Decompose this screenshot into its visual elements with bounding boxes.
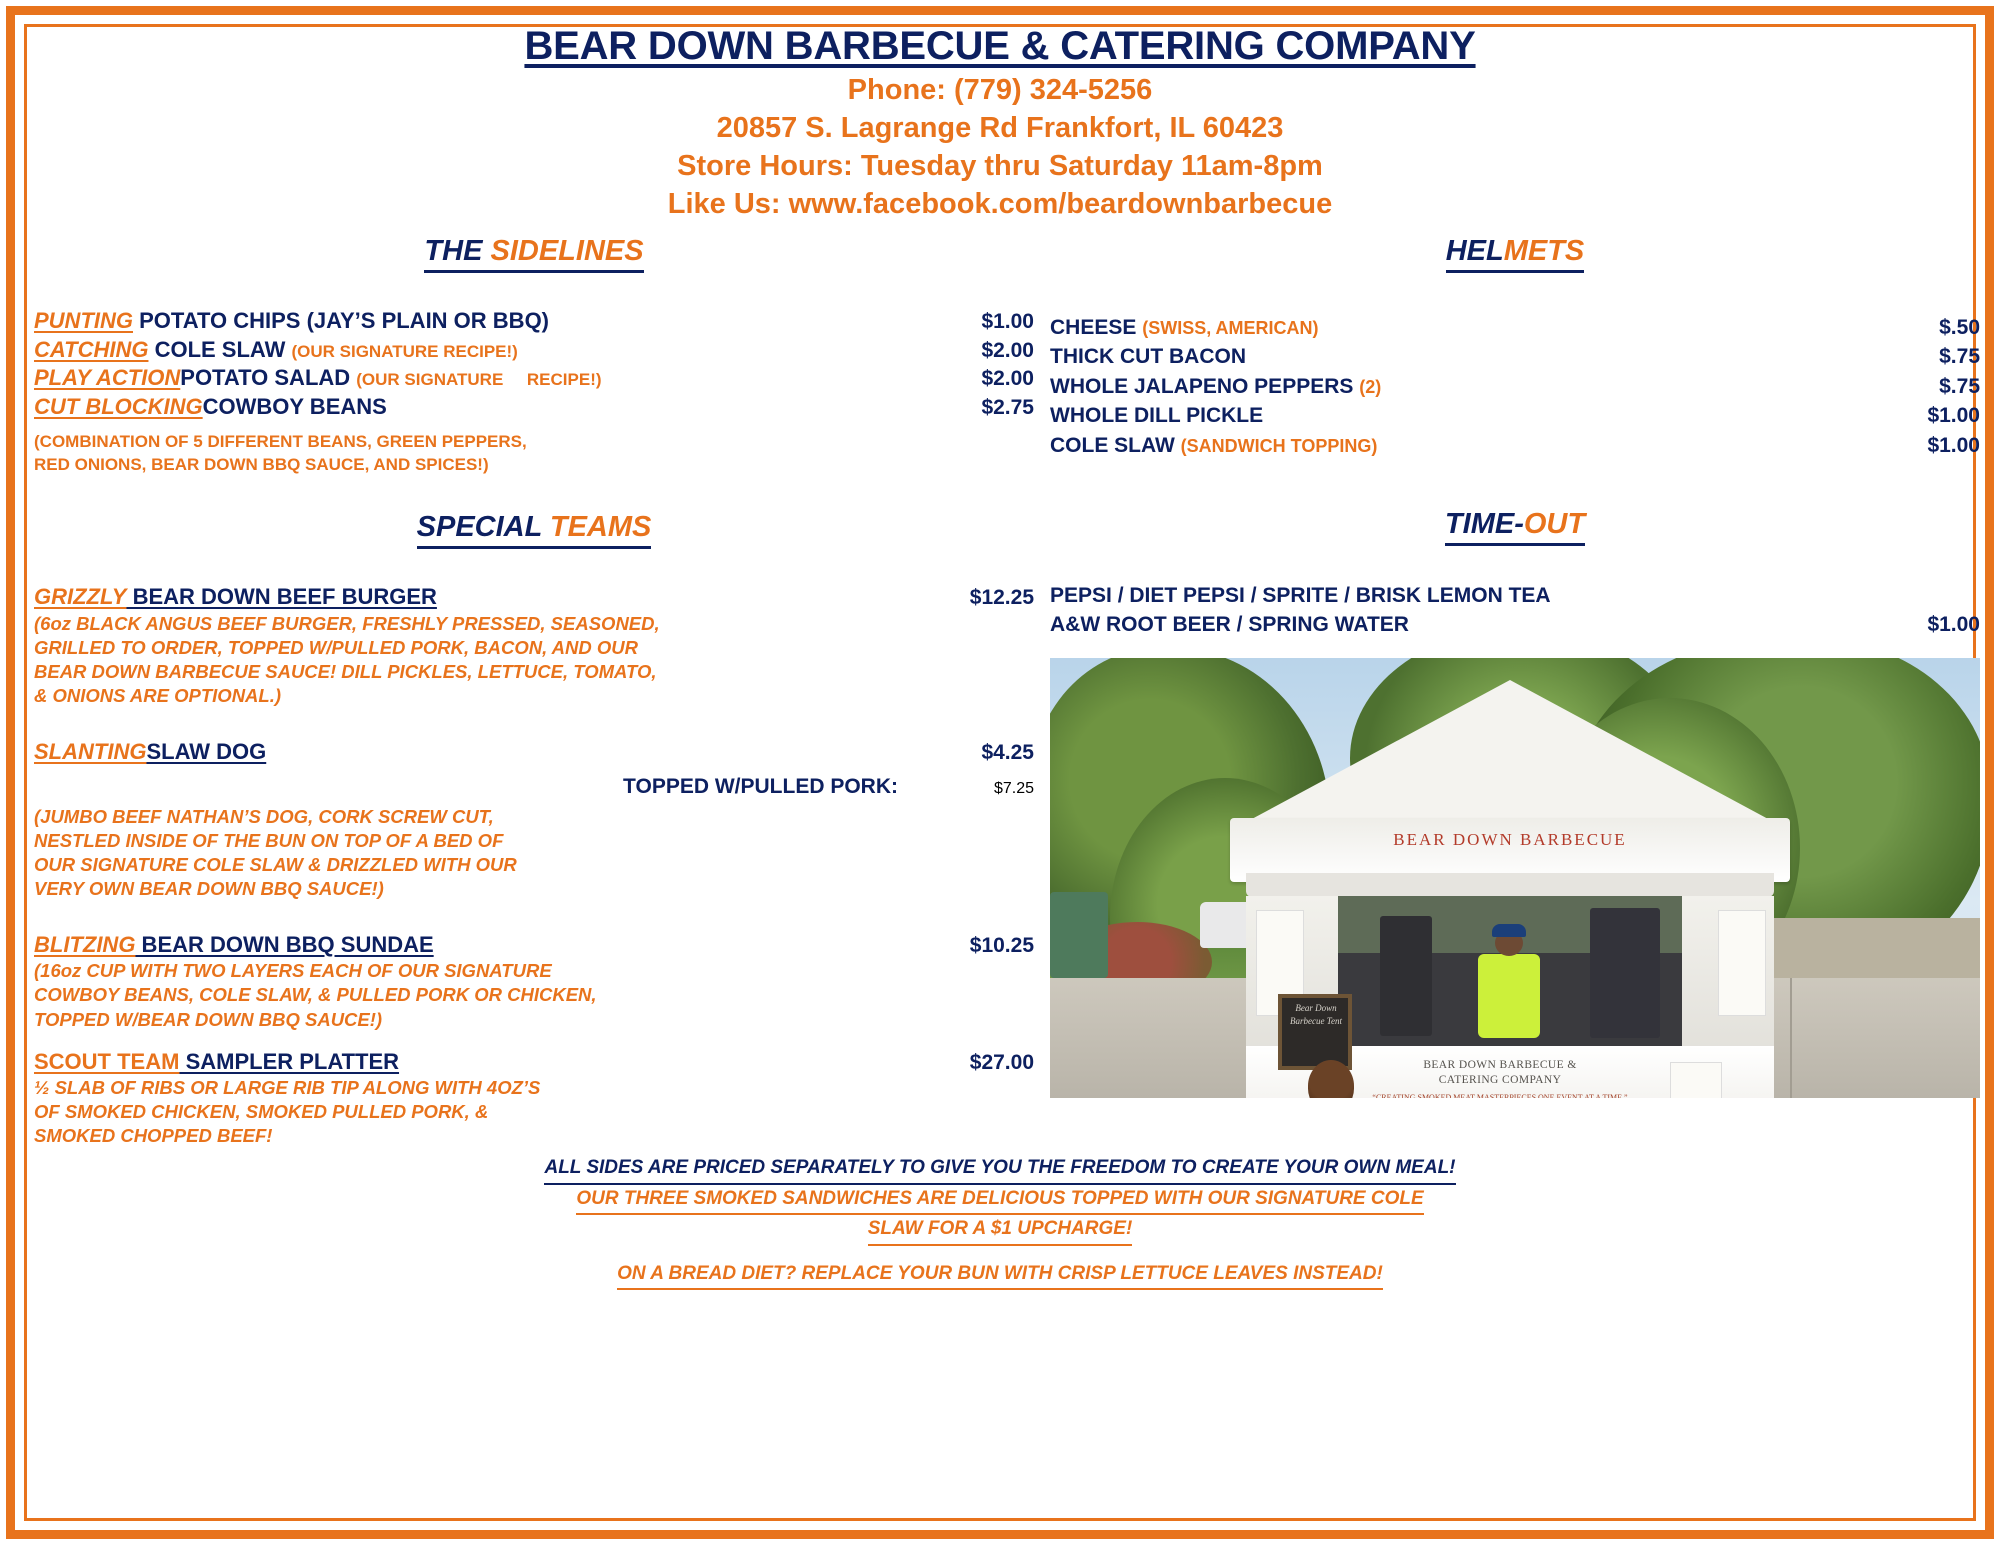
item-keyword: BLITZING	[34, 932, 135, 957]
photo-banner-tagline: “CREATING SMOKED MEAT MASTERPIECES ONE E…	[1350, 1093, 1650, 1098]
photo-menu-sheet	[1670, 1062, 1722, 1098]
item-price: $1.00	[864, 308, 1034, 335]
menu-row-sampler: SCOUT TEAM SAMPLER PLATTER $27.00	[34, 1048, 1034, 1077]
footer-note-4: ON A BREAD DIET? REPLACE YOUR BUN WITH C…	[34, 1260, 1966, 1291]
menu-content: BEAR DOWN BARBECUE & CATERING COMPANY Ph…	[34, 14, 1966, 1515]
drinks-list: PEPSI / DIET PEPSI / SPRITE / BRISK LEMO…	[1050, 582, 1980, 640]
photo-chalkboard-text: Bear Down Barbecue Tent	[1282, 1002, 1350, 1029]
special-teams-item-list: GRIZZLY BEAR DOWN BEEF BURGER $12.25 (6o…	[34, 583, 1034, 1148]
item-price: $2.00	[864, 337, 1034, 364]
menu-row: THICK CUT BACON $.75	[1050, 342, 1980, 371]
item-note: (2)	[1359, 377, 1381, 397]
cowboy-beans-description-line1: (COMBINATION OF 5 DIFFERENT BEANS, GREEN…	[34, 431, 1034, 454]
sidelines-item-name: PUNTING POTATO CHIPS (JAY’S PLAIN OR BBQ…	[34, 307, 864, 336]
helmets-item-list: CHEESE (SWISS, AMERICAN) $.50 THICK CUT …	[1050, 313, 1980, 460]
sampler-description-line: SMOKED CHOPPED BEEF!	[34, 1124, 1034, 1148]
item-price: $2.00	[864, 365, 1034, 392]
item-keyword: GRIZZLY	[34, 584, 126, 609]
sidelines-item-name: PLAY ACTIONPOTATO SALAD (OUR SIGNATURE R…	[34, 364, 864, 393]
item-price: $.75	[1860, 342, 1980, 371]
footer-note-1-text: ALL SIDES ARE PRICED SEPARATELY TO GIVE …	[544, 1154, 1455, 1185]
sidelines-heading-part2: SIDELINES	[490, 235, 643, 267]
item-price: $.75	[1860, 372, 1980, 401]
sundae-name: BLITZING BEAR DOWN BBQ SUNDAE	[34, 931, 864, 960]
helmets-heading-part1: HEL	[1446, 235, 1504, 267]
photo-tent-roof	[1250, 680, 1770, 820]
item-keyword: PUNTING	[34, 308, 133, 333]
item-note: (OUR SIGNATURE RECIPE!)	[356, 370, 601, 389]
menu-row: WHOLE DILL PICKLE $1.00	[1050, 401, 1980, 430]
facebook-line: Like Us: www.facebook.com/beardownbarbec…	[34, 188, 1966, 221]
hours-line: Store Hours: Tuesday thru Saturday 11am-…	[34, 150, 1966, 183]
burger-description-line: BEAR DOWN BARBECUE SAUCE! DILL PICKLES, …	[34, 660, 1034, 684]
photo-tent-brand-text: BEAR DOWN BARBECUE	[1230, 830, 1790, 850]
item-label: COWBOY BEANS	[203, 394, 387, 419]
helmet-item-name: WHOLE DILL PICKLE	[1050, 401, 1860, 430]
slaw-dog-topped-row: TOPPED W/PULLED PORK: $7.25	[34, 775, 1034, 799]
menu-page: BEAR DOWN BARBECUE & CATERING COMPANY Ph…	[0, 0, 2000, 1545]
slaw-dog-name: SLANTINGSLAW DOG	[34, 738, 864, 767]
photo-vendor-cap	[1492, 924, 1526, 937]
item-label: SLAW DOG	[146, 739, 266, 764]
photo-banner: BEAR DOWN BARBECUE & CATERING COMPANY “C…	[1350, 1058, 1650, 1098]
menu-row: COLE SLAW (SANDWICH TOPPING) $1.00	[1050, 431, 1980, 460]
sidelines-item-list: PUNTING POTATO CHIPS (JAY’S PLAIN OR BBQ…	[34, 307, 1034, 477]
drinks-price: $1.00	[1860, 611, 1980, 638]
menu-row: CHEESE (SWISS, AMERICAN) $.50	[1050, 313, 1980, 342]
item-keyword: SCOUT TEAM	[34, 1049, 179, 1074]
special-teams-heading-part2: TEAMS	[550, 511, 652, 543]
sundae-description-line: COWBOY BEANS, COLE SLAW, & PULLED PORK O…	[34, 983, 1034, 1007]
item-price: $.50	[1860, 313, 1980, 342]
item-label: SAMPLER PLATTER	[179, 1049, 399, 1074]
photo-smoker-left	[1380, 916, 1432, 1036]
helmet-item-name: COLE SLAW (SANDWICH TOPPING)	[1050, 431, 1860, 460]
item-label: CHEESE	[1050, 316, 1142, 339]
sampler-description-line: ½ SLAB OF RIBS OR LARGE RIB TIP ALONG WI…	[34, 1076, 1034, 1100]
item-price: $1.00	[1860, 401, 1980, 430]
footer-note-2-text: OUR THREE SMOKED SANDWICHES ARE DELICIOU…	[576, 1185, 1423, 1216]
slaw-dog-description-line: NESTLED INSIDE OF THE BUN ON TOP OF A BE…	[34, 829, 1034, 853]
burger-price: $12.25	[864, 584, 1034, 611]
item-note: (SANDWICH TOPPING)	[1181, 436, 1378, 456]
menu-row-slaw-dog: SLANTINGSLAW DOG $4.25	[34, 738, 1034, 767]
footer-note-3: SLAW FOR A $1 UPCHARGE!	[34, 1215, 1966, 1246]
menu-row: CUT BLOCKINGCOWBOY BEANS $2.75	[34, 393, 1034, 422]
address-line: 20857 S. Lagrange Rd Frankfort, IL 60423	[34, 112, 1966, 145]
menu-row-drinks: A&W ROOT BEER / SPRING WATER $1.00	[1050, 611, 1980, 640]
photo-tent-eave-lower	[1246, 873, 1774, 897]
sidelines-item-name: CUT BLOCKINGCOWBOY BEANS	[34, 393, 864, 422]
slaw-dog-price: $4.25	[864, 739, 1034, 766]
helmets-heading-part2: METS	[1504, 235, 1585, 267]
drinks-line-1: PEPSI / DIET PEPSI / SPRITE / BRISK LEMO…	[1050, 582, 1980, 611]
drinks-line-2: A&W ROOT BEER / SPRING WATER	[1050, 611, 1860, 640]
photo-banner-line1: BEAR DOWN BARBECUE &	[1350, 1058, 1650, 1074]
item-note: (SWISS, AMERICAN)	[1142, 318, 1318, 338]
menu-row-sundae: BLITZING BEAR DOWN BBQ SUNDAE $10.25	[34, 931, 1034, 960]
item-label: BEAR DOWN BEEF BURGER	[126, 584, 436, 609]
slaw-dog-description-line: (JUMBO BEEF NATHAN’S DOG, CORK SCREW CUT…	[34, 805, 1034, 829]
menu-row: CATCHING COLE SLAW (OUR SIGNATURE RECIPE…	[34, 336, 1034, 365]
tent-photo: BEAR DOWN BARBECUE Bear D	[1050, 658, 1980, 1098]
item-label: COLE SLAW	[148, 337, 291, 362]
business-title: BEAR DOWN BARBECUE & CATERING COMPANY	[34, 24, 1966, 69]
footer-note-4-text: ON A BREAD DIET? REPLACE YOUR BUN WITH C…	[617, 1260, 1383, 1291]
menu-footer: ALL SIDES ARE PRICED SEPARATELY TO GIVE …	[34, 1154, 1966, 1290]
item-label: POTATO CHIPS (JAY’S PLAIN OR BBQ)	[133, 308, 549, 333]
photo-smoker-right	[1590, 908, 1660, 1038]
burger-description-line: & ONIONS ARE OPTIONAL.)	[34, 684, 1034, 708]
menu-row-burger: GRIZZLY BEAR DOWN BEEF BURGER $12.25	[34, 583, 1034, 612]
helmet-item-name: THICK CUT BACON	[1050, 342, 1860, 371]
time-out-heading-part2: OUT	[1524, 508, 1585, 540]
photo-sidewalk-seam	[1790, 978, 1792, 1098]
section-heading-special-teams: SPECIAL TEAMS	[34, 511, 1034, 549]
menu-row: PUNTING POTATO CHIPS (JAY’S PLAIN OR BBQ…	[34, 307, 1034, 336]
menu-row: WHOLE JALAPENO PEPPERS (2) $.75	[1050, 372, 1980, 401]
sampler-name: SCOUT TEAM SAMPLER PLATTER	[34, 1048, 864, 1077]
footer-note-2: OUR THREE SMOKED SANDWICHES ARE DELICIOU…	[34, 1185, 1966, 1216]
time-out-heading-part1: TIME-	[1445, 508, 1524, 540]
footer-note-1: ALL SIDES ARE PRICED SEPARATELY TO GIVE …	[34, 1154, 1966, 1185]
item-keyword: CATCHING	[34, 337, 148, 362]
item-label: THICK CUT BACON	[1050, 345, 1246, 368]
photo-vendor-shirt	[1478, 954, 1540, 1038]
item-label: BEAR DOWN BBQ SUNDAE	[135, 932, 433, 957]
burger-name: GRIZZLY BEAR DOWN BEEF BURGER	[34, 583, 864, 612]
item-label: POTATO SALAD	[180, 365, 356, 390]
slaw-dog-topped-label: TOPPED W/PULLED PORK:	[623, 775, 898, 799]
left-column: THE SIDELINES PUNTING POTATO CHIPS (JAY’…	[34, 231, 1034, 1148]
burger-description-line: (6oz BLACK ANGUS BEEF BURGER, FRESHLY PR…	[34, 612, 1034, 636]
helmet-item-name: WHOLE JALAPENO PEPPERS (2)	[1050, 372, 1860, 401]
special-teams-heading-part1: SPECIAL	[417, 511, 550, 543]
sidelines-item-name: CATCHING COLE SLAW (OUR SIGNATURE RECIPE…	[34, 336, 864, 365]
menu-columns: THE SIDELINES PUNTING POTATO CHIPS (JAY’…	[34, 231, 1966, 1148]
sundae-price: $10.25	[864, 932, 1034, 959]
helmet-item-name: CHEESE (SWISS, AMERICAN)	[1050, 313, 1860, 342]
item-price: $2.75	[864, 394, 1034, 421]
burger-description-line: GRILLED TO ORDER, TOPPED W/PULLED PORK, …	[34, 636, 1034, 660]
item-price: $1.00	[1860, 431, 1980, 460]
sidelines-heading-part1: THE	[424, 235, 490, 267]
item-label: COLE SLAW	[1050, 434, 1181, 457]
slaw-dog-description-line: VERY OWN BEAR DOWN BBQ SAUCE!)	[34, 877, 1034, 901]
section-heading-time-out: TIME-OUT	[1050, 508, 1980, 546]
item-keyword: CUT BLOCKING	[34, 394, 203, 419]
footer-note-3-text: SLAW FOR A $1 UPCHARGE!	[868, 1215, 1133, 1246]
sundae-description-line: TOPPED W/BEAR DOWN BBQ SAUCE!)	[34, 1008, 1034, 1032]
photo-banner-line2: CATERING COMPANY	[1350, 1073, 1650, 1089]
slaw-dog-description-line: OUR SIGNATURE COLE SLAW & DRIZZLED WITH …	[34, 853, 1034, 877]
section-heading-sidelines: THE SIDELINES	[34, 235, 1034, 273]
slaw-dog-topped-price: $7.25	[914, 780, 1034, 798]
item-keyword: SLANTING	[34, 739, 146, 764]
item-keyword: PLAY ACTION	[34, 365, 180, 390]
menu-row: PLAY ACTIONPOTATO SALAD (OUR SIGNATURE R…	[34, 364, 1034, 393]
sampler-price: $27.00	[864, 1049, 1034, 1076]
item-label: WHOLE JALAPENO PEPPERS	[1050, 375, 1359, 398]
sampler-description-line: OF SMOKED CHICKEN, SMOKED PULLED PORK, &	[34, 1100, 1034, 1124]
right-column: HELMETS CHEESE (SWISS, AMERICAN) $.50 TH…	[1034, 231, 1980, 1098]
phone-line: Phone: (779) 324-5256	[34, 74, 1966, 107]
section-heading-helmets: HELMETS	[1050, 235, 1980, 273]
menu-header: BEAR DOWN BARBECUE & CATERING COMPANY Ph…	[34, 24, 1966, 221]
photo-trash-bin	[1050, 892, 1108, 978]
photo-menu-sheet	[1718, 910, 1766, 1016]
item-label: WHOLE DILL PICKLE	[1050, 404, 1263, 427]
sundae-description-line: (16oz CUP WITH TWO LAYERS EACH OF OUR SI…	[34, 959, 1034, 983]
item-note: (OUR SIGNATURE RECIPE!)	[291, 342, 517, 361]
cowboy-beans-description-line2: RED ONIONS, BEAR DOWN BBQ SAUCE, AND SPI…	[34, 454, 1034, 477]
